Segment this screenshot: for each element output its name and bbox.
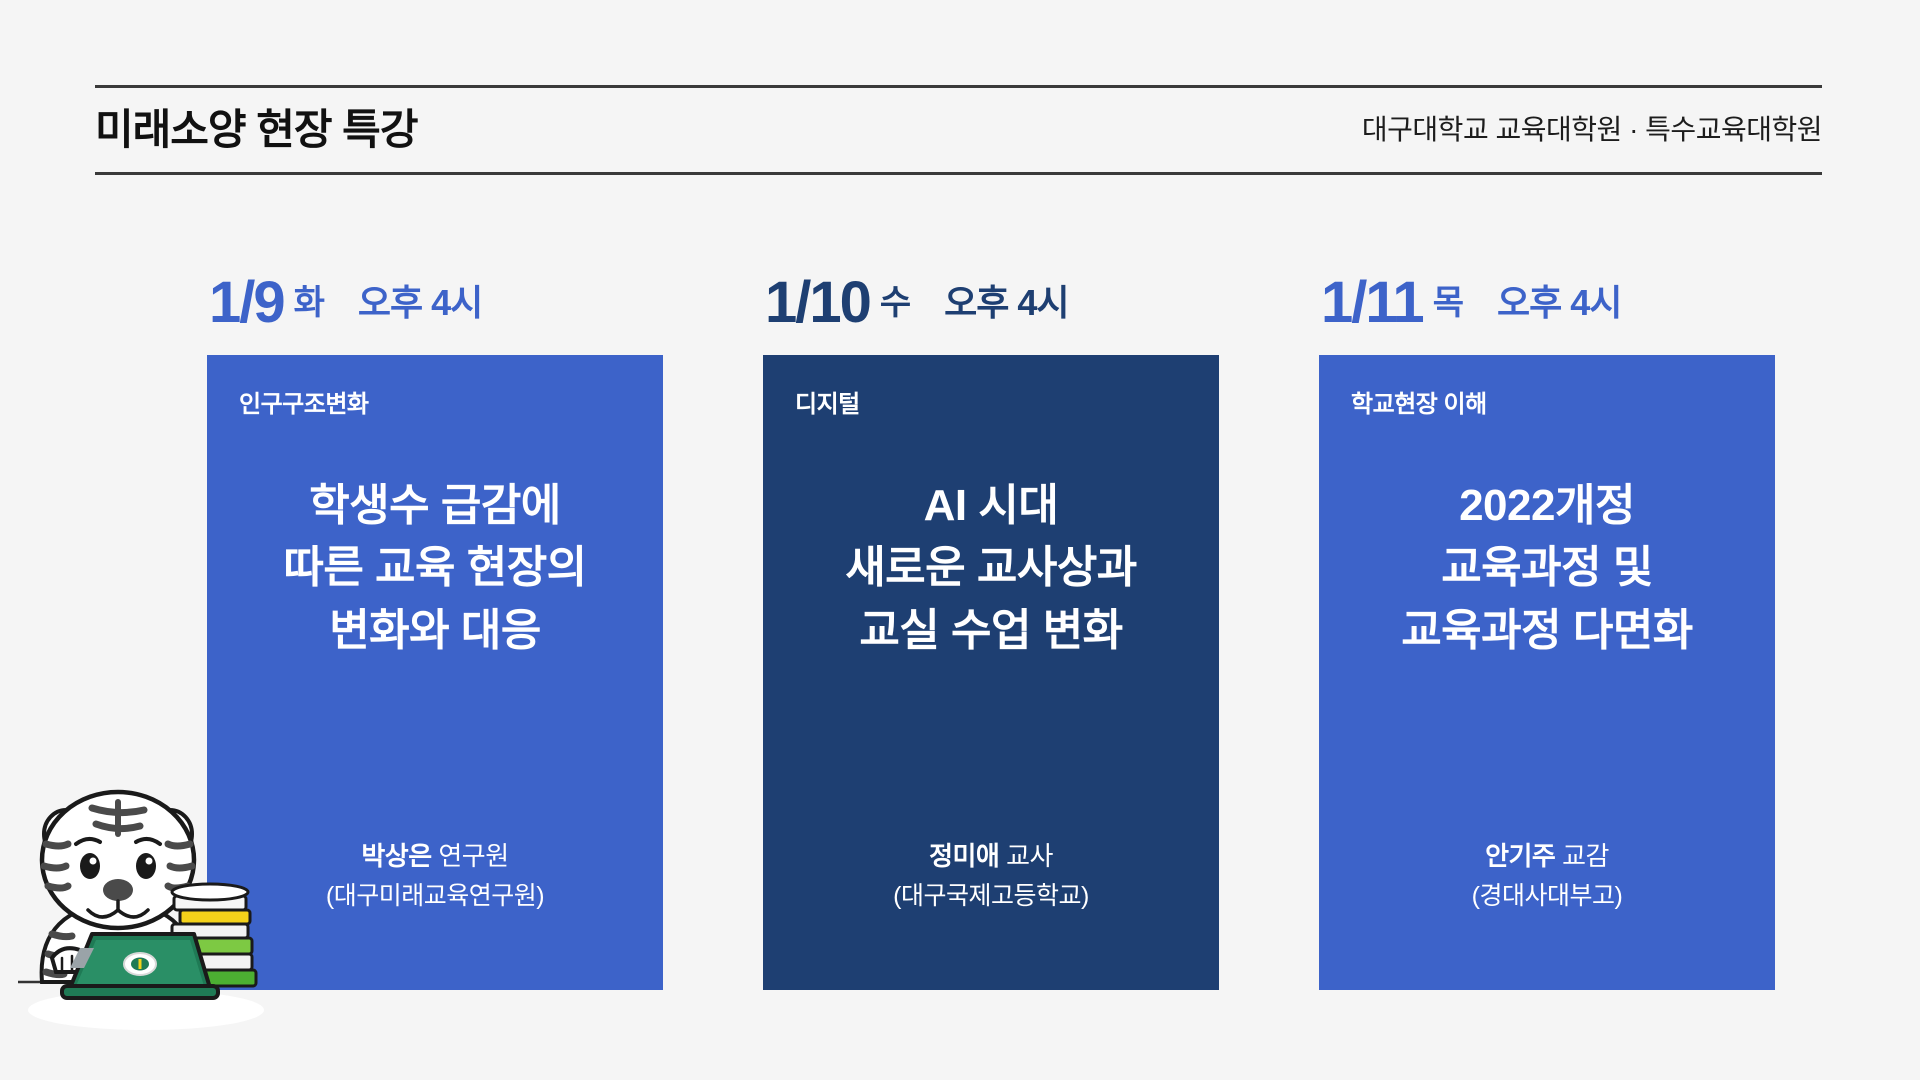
session-weekday-1: 화: [294, 286, 324, 320]
speaker-role-1: 연구원: [438, 841, 508, 871]
speaker-name-1: 박상은: [361, 841, 431, 871]
session-tag-3: 학교현장 이해: [1351, 393, 1487, 417]
white-tiger-mascot-icon: [18, 782, 288, 1032]
session-speaker-2: 정미애 교사 (대구국제고등학교): [893, 838, 1089, 914]
speaker-affiliation-1: (대구미래교육연구원): [326, 879, 544, 915]
session-weekday-3: 목: [1433, 286, 1463, 320]
session-title-2: AI 시대 새로운 교사상과 교실 수업 변화: [845, 475, 1137, 662]
session-panel-2: 디지털 AI 시대 새로운 교사상과 교실 수업 변화 정미애 교사 (대구국제…: [763, 355, 1219, 990]
session-panel-3: 학교현장 이해 2022개정 교육과정 및 교육과정 다면화 안기주 교감 (경…: [1319, 355, 1775, 990]
session-list: 1/9 화 오후 4시 인구구조변화 학생수 급감에 따른 교육 현장의 변화와…: [207, 250, 1775, 990]
speaker-name-2: 정미애: [929, 841, 999, 871]
speaker-role-3: 교감: [1562, 841, 1609, 871]
session-tag-2: 디지털: [795, 393, 860, 417]
session-date-row-2: 1/10 수 오후 4시: [763, 250, 1219, 355]
organization-label: 대구대학교 교육대학원 · 특수교육대학원: [1362, 116, 1822, 144]
session-date-row-3: 1/11 목 오후 4시: [1319, 250, 1775, 355]
session-tag-1: 인구구조변화: [239, 393, 368, 417]
speaker-role-2: 교사: [1006, 841, 1053, 871]
session-time-2: 오후 4시: [944, 285, 1068, 321]
session-date-row-1: 1/9 화 오후 4시: [207, 250, 663, 355]
session-time-1: 오후 4시: [358, 285, 482, 321]
session-title-3: 2022개정 교육과정 및 교육과정 다면화: [1401, 475, 1693, 662]
session-date-1: 1/9: [209, 274, 284, 332]
session-weekday-2: 수: [880, 286, 910, 320]
session-card-3: 1/11 목 오후 4시 학교현장 이해 2022개정 교육과정 및 교육과정 …: [1319, 250, 1775, 990]
session-card-2: 1/10 수 오후 4시 디지털 AI 시대 새로운 교사상과 교실 수업 변화…: [763, 250, 1219, 990]
session-title-1: 학생수 급감에 따른 교육 현장의 변화와 대응: [283, 475, 586, 662]
speaker-affiliation-3: (경대사대부고): [1472, 879, 1623, 915]
speaker-name-3: 안기주: [1485, 841, 1555, 871]
speaker-affiliation-2: (대구국제고등학교): [893, 879, 1089, 915]
session-date-2: 1/10: [765, 274, 870, 332]
poster-header: 미래소양 현장 특강 대구대학교 교육대학원 · 특수교육대학원: [95, 85, 1822, 175]
poster-root: 미래소양 현장 특강 대구대학교 교육대학원 · 특수교육대학원 1/9 화 오…: [0, 0, 1920, 1080]
page-title: 미래소양 현장 특강: [95, 109, 417, 151]
session-date-3: 1/11: [1321, 274, 1423, 332]
session-time-3: 오후 4시: [1497, 285, 1621, 321]
session-speaker-3: 안기주 교감 (경대사대부고): [1472, 838, 1623, 914]
session-speaker-1: 박상은 연구원 (대구미래교육연구원): [326, 838, 544, 914]
